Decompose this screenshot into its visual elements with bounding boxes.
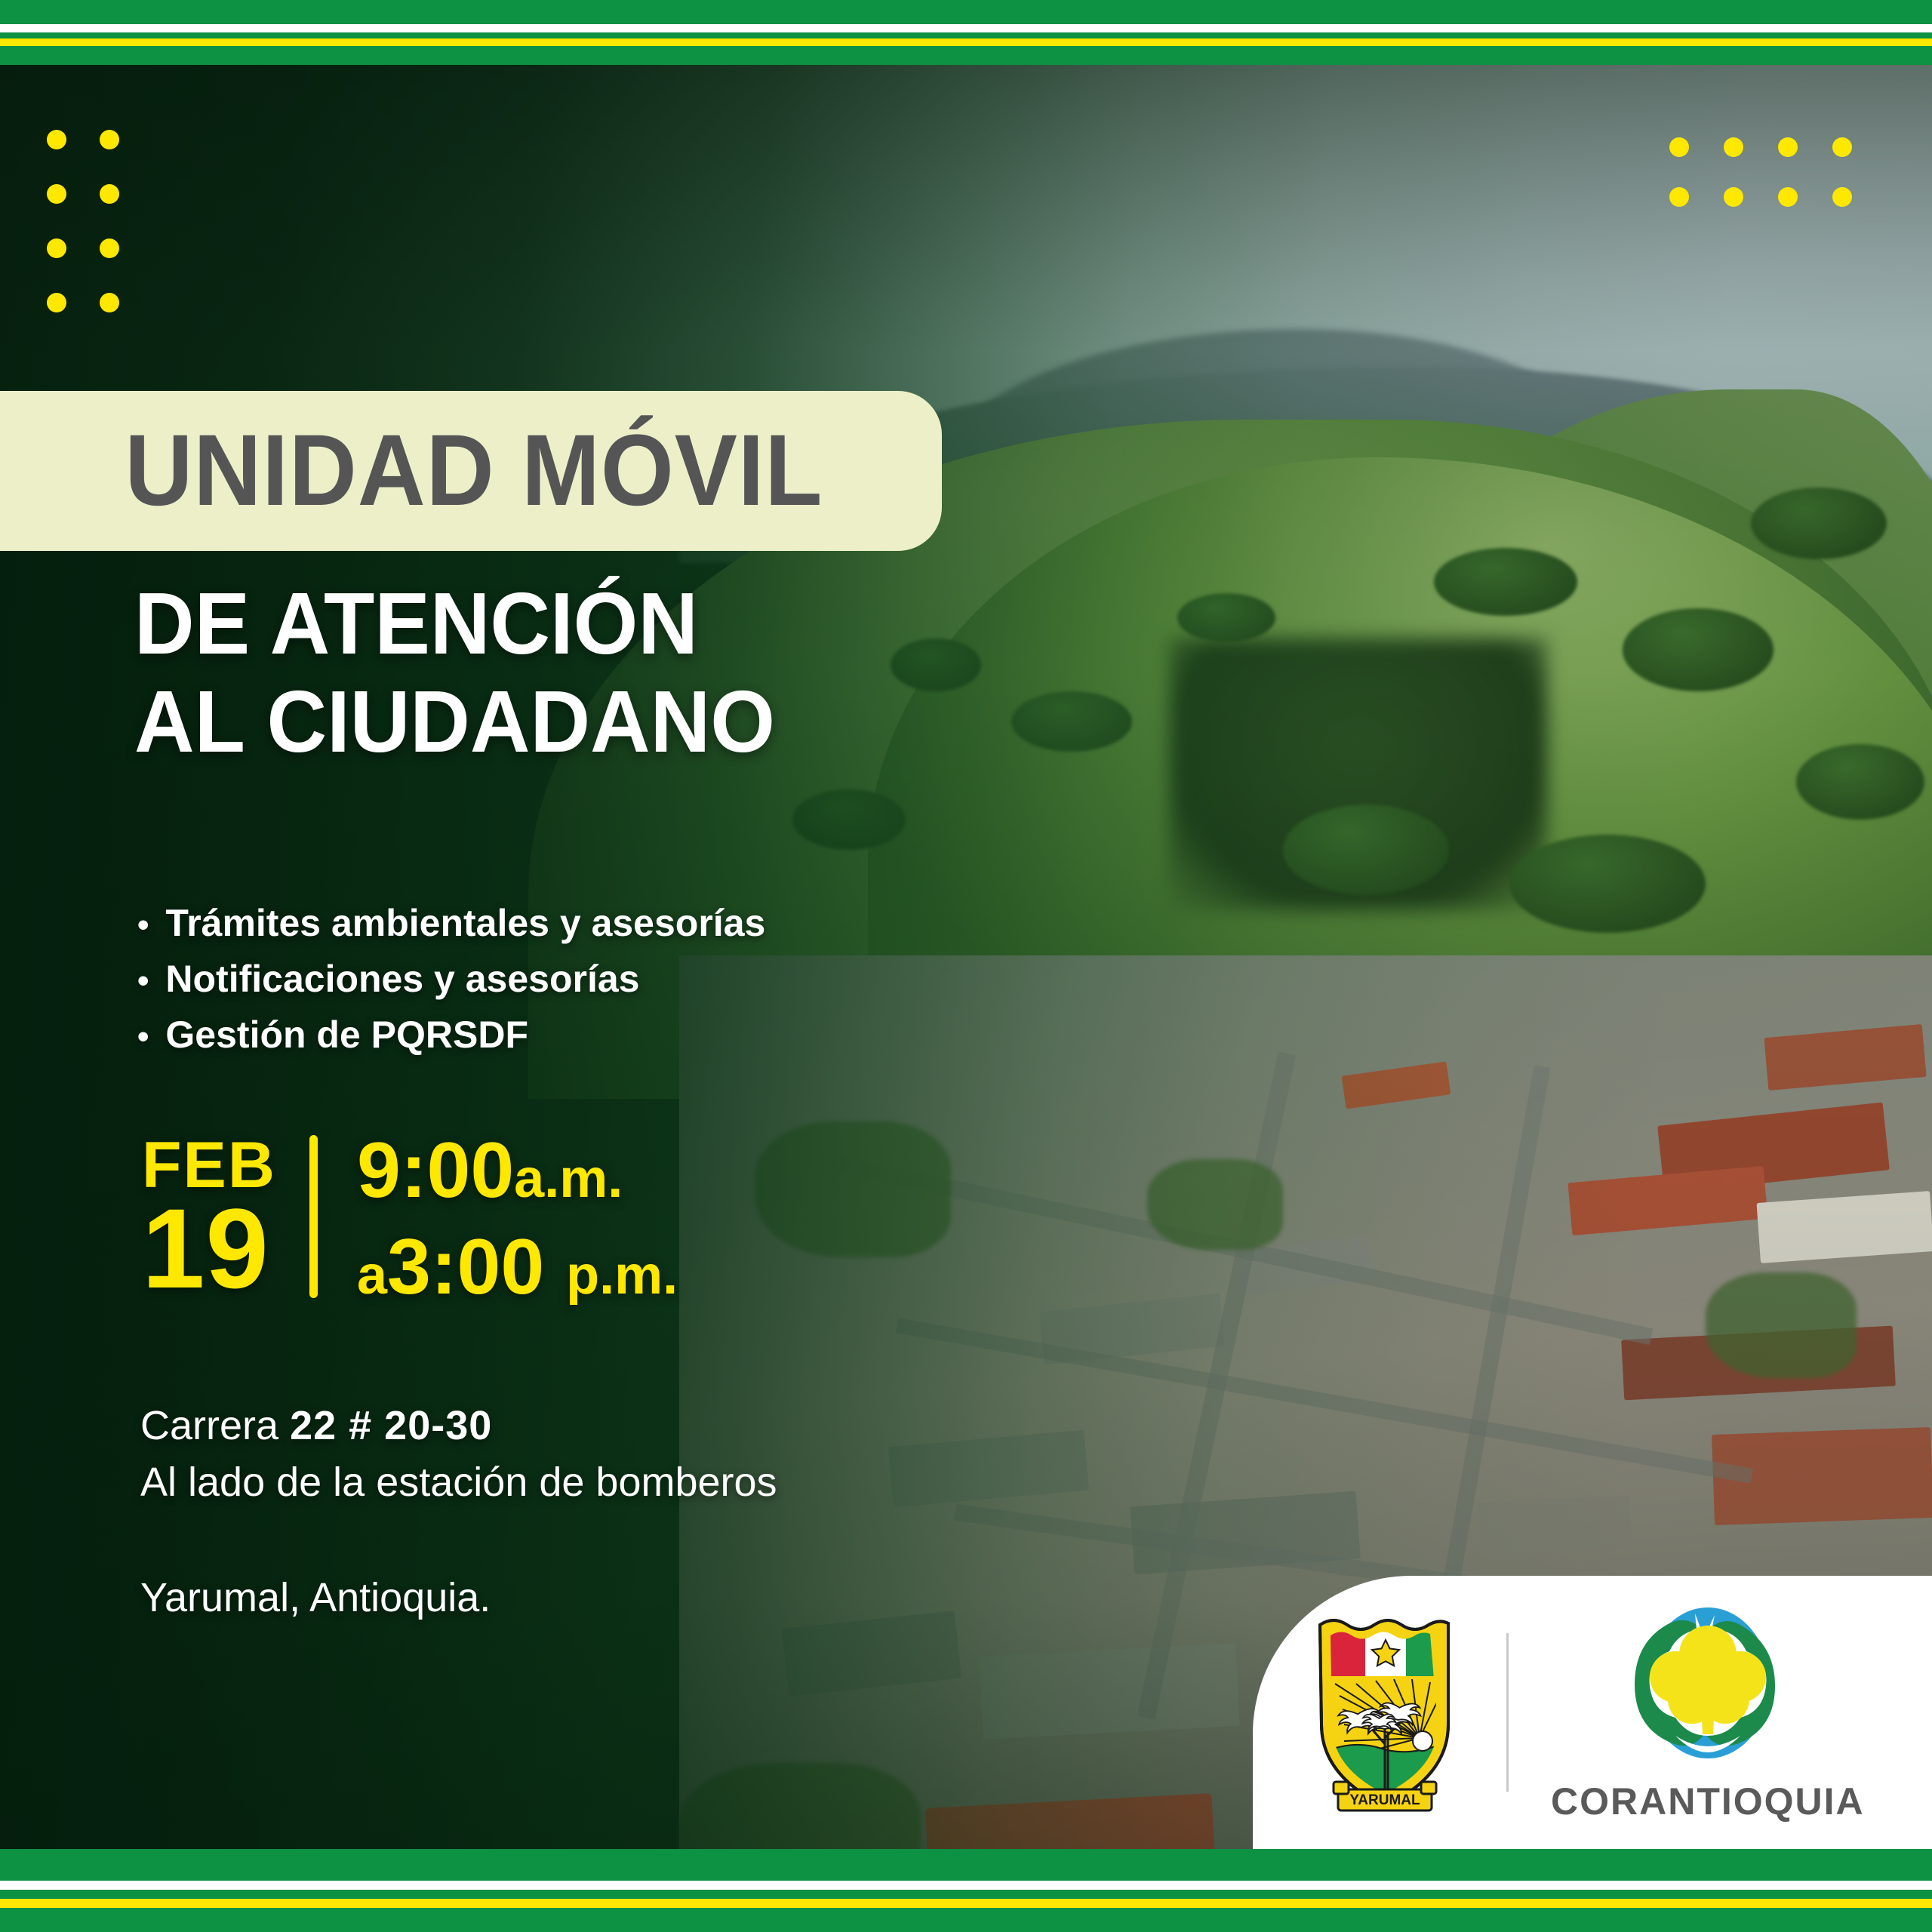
decorative-dot xyxy=(1832,137,1852,157)
address-block: Carrera 22 # 20-30 Al lado de la estació… xyxy=(140,1398,777,1510)
decorative-dot xyxy=(1778,187,1798,207)
border-green-2 xyxy=(0,32,1932,38)
decorative-dot xyxy=(1669,187,1689,207)
bullet-icon: • xyxy=(137,909,149,942)
border-green-1 xyxy=(0,1849,1932,1881)
border-white xyxy=(0,24,1932,32)
decorative-dot xyxy=(100,293,119,312)
decorative-dot xyxy=(47,130,66,149)
logo-panel: YARUMAL xyxy=(1253,1576,1932,1849)
yarumal-crest: YARUMAL xyxy=(1306,1611,1464,1814)
headline-line-1: DE ATENCIÓN xyxy=(134,575,775,673)
headline: DE ATENCIÓN AL CIUDADANO xyxy=(134,575,775,771)
border-top xyxy=(0,0,1932,65)
bullet-icon: • xyxy=(137,1020,149,1054)
border-yellow xyxy=(0,1899,1932,1908)
corantioquia-tree-icon xyxy=(1626,1601,1790,1772)
time-end-suffix: p.m. xyxy=(566,1245,678,1306)
border-yellow xyxy=(0,38,1932,46)
address-city: Yarumal, Antioquia. xyxy=(140,1574,491,1621)
corantioquia-logo: CORANTIOQUIA xyxy=(1551,1601,1865,1823)
poster-title: UNIDAD MÓVIL xyxy=(97,420,823,521)
service-label: Notificaciones y asesorías xyxy=(165,951,639,1007)
time-end-number: 3:00 xyxy=(387,1223,544,1311)
decorative-dot xyxy=(100,238,119,258)
border-green-1 xyxy=(0,0,1932,24)
time-block: 9:00a.m. a3:00 p.m. xyxy=(318,1131,678,1307)
decorative-dot xyxy=(1669,137,1689,157)
decorative-dot xyxy=(1778,137,1798,157)
title-banner: UNIDAD MÓVIL xyxy=(0,391,942,551)
decorative-dot xyxy=(47,293,66,312)
time-start-row: 9:00a.m. xyxy=(357,1131,678,1211)
date-time-block: FEB 19 9:00a.m. a3:00 p.m. xyxy=(142,1131,678,1307)
decorative-dot xyxy=(47,238,66,258)
service-label: Trámites ambientales y asesorías xyxy=(165,895,765,951)
decorative-dot xyxy=(100,184,119,204)
address-street-number: 22 # 20-30 xyxy=(290,1403,492,1448)
service-label: Gestión de PQRSDF xyxy=(165,1007,528,1063)
corantioquia-name: CORANTIOQUIA xyxy=(1551,1780,1865,1823)
dot-grid-left xyxy=(47,130,152,347)
border-white xyxy=(0,1881,1932,1890)
border-green-2 xyxy=(0,1890,1932,1899)
bullet-icon: • xyxy=(137,964,149,998)
border-green-3 xyxy=(0,1908,1932,1932)
services-list: • Trámites ambientales y asesorías • Not… xyxy=(137,895,765,1063)
decorative-dot xyxy=(100,130,119,149)
crest-banner-text: YARUMAL xyxy=(1349,1792,1420,1808)
address-reference: Al lado de la estación de bomberos xyxy=(140,1454,777,1511)
time-start-suffix: a.m. xyxy=(514,1149,623,1209)
time-end-prefix: a xyxy=(357,1245,387,1306)
decorative-dot xyxy=(1724,137,1743,157)
yarumal-crest-icon: YARUMAL xyxy=(1309,1611,1460,1814)
time-end-row: a3:00 p.m. xyxy=(357,1227,678,1307)
list-item: • Notificaciones y asesorías xyxy=(137,951,765,1007)
border-bottom xyxy=(0,1849,1932,1932)
date-day: 19 xyxy=(142,1193,276,1304)
vertical-divider xyxy=(309,1135,318,1298)
decorative-dot xyxy=(47,184,66,204)
list-item: • Trámites ambientales y asesorías xyxy=(137,895,765,951)
time-start-number: 9:00 xyxy=(357,1127,514,1214)
address-street-row: Carrera 22 # 20-30 xyxy=(140,1398,777,1454)
poster-root: UNIDAD MÓVIL DE ATENCIÓN AL CIUDADANO • … xyxy=(0,0,1932,1932)
border-green-3 xyxy=(0,46,1932,65)
logo-divider xyxy=(1506,1633,1509,1792)
decorative-dot xyxy=(1832,187,1852,207)
headline-line-2: AL CIUDADANO xyxy=(134,673,775,771)
address-street-label: Carrera xyxy=(140,1403,278,1448)
decorative-dot xyxy=(1724,187,1743,207)
date-block: FEB 19 xyxy=(142,1131,309,1307)
dot-grid-right xyxy=(1669,137,1887,237)
list-item: • Gestión de PQRSDF xyxy=(137,1007,765,1063)
